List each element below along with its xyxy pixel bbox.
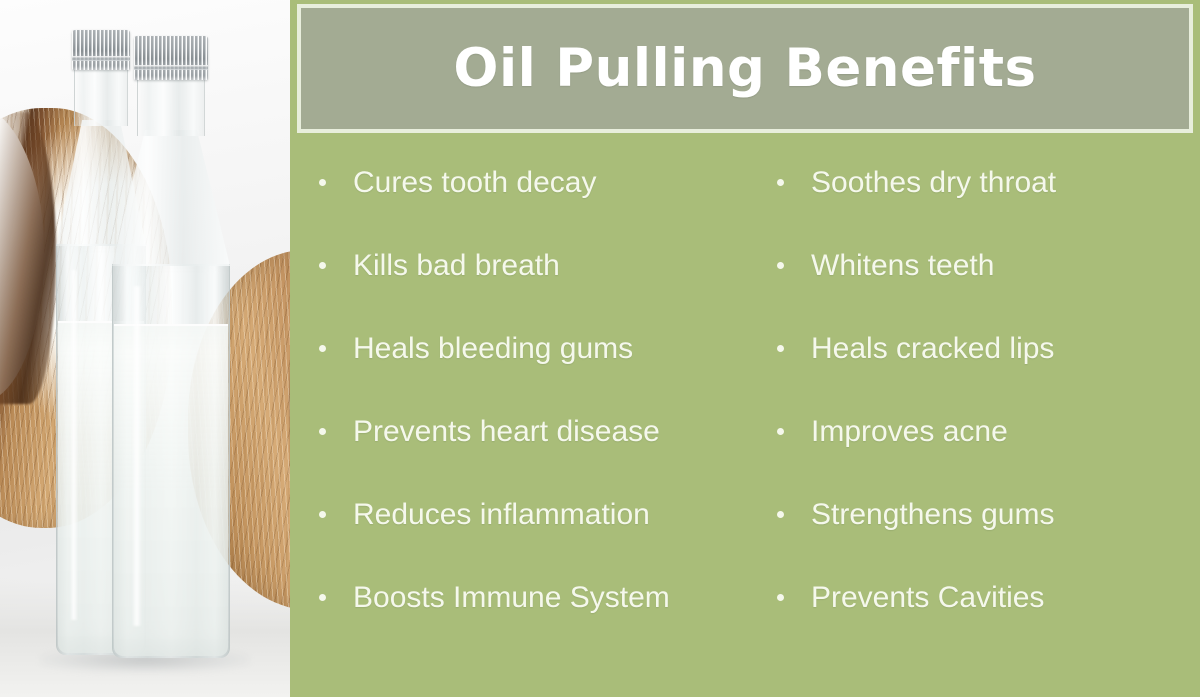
- list-item: Prevents Cavities: [756, 556, 1200, 639]
- coconut-oil-photo: [0, 0, 290, 697]
- list-item: Boosts Immune System: [290, 556, 756, 639]
- benefit-label: Kills bad breath: [353, 249, 560, 282]
- bottle-highlight: [70, 270, 78, 620]
- bullet-icon: [777, 179, 784, 186]
- oil-bottle-front: [112, 36, 230, 658]
- benefit-label: Prevents Cavities: [811, 581, 1044, 614]
- bullet-icon: [777, 594, 784, 601]
- bullet-icon: [319, 262, 326, 269]
- bottle-highlight: [132, 286, 142, 626]
- benefit-label: Heals cracked lips: [811, 332, 1054, 365]
- list-item: Strengthens gums: [756, 473, 1200, 556]
- benefit-label: Cures tooth decay: [353, 166, 596, 199]
- benefits-column-right: Soothes dry throat Whitens teeth Heals c…: [756, 141, 1200, 661]
- benefit-label: Improves acne: [811, 415, 1008, 448]
- benefits-panel: Oil Pulling Benefits Cures tooth decay K…: [290, 0, 1200, 697]
- list-item: Heals cracked lips: [756, 307, 1200, 390]
- benefit-label: Prevents heart disease: [353, 415, 660, 448]
- list-item: Heals bleeding gums: [290, 307, 756, 390]
- list-item: Reduces inflammation: [290, 473, 756, 556]
- benefit-label: Reduces inflammation: [353, 498, 650, 531]
- bottle-shoulder: [112, 130, 230, 266]
- benefit-label: Soothes dry throat: [811, 166, 1056, 199]
- list-item: Whitens teeth: [756, 224, 1200, 307]
- page-title: Oil Pulling Benefits: [453, 42, 1036, 95]
- list-item: Kills bad breath: [290, 224, 756, 307]
- bullet-icon: [319, 345, 326, 352]
- bullet-icon: [319, 511, 326, 518]
- list-item: Cures tooth decay: [290, 141, 756, 224]
- bullet-icon: [777, 262, 784, 269]
- infographic-canvas: Oil Pulling Benefits Cures tooth decay K…: [0, 0, 1200, 697]
- bullet-icon: [319, 179, 326, 186]
- bullet-icon: [777, 345, 784, 352]
- bullet-icon: [319, 428, 326, 435]
- bullet-icon: [319, 594, 326, 601]
- benefit-label: Strengthens gums: [811, 498, 1054, 531]
- list-item: Prevents heart disease: [290, 390, 756, 473]
- bullet-icon: [777, 511, 784, 518]
- benefit-label: Whitens teeth: [811, 249, 994, 282]
- bullet-icon: [777, 428, 784, 435]
- list-item: Improves acne: [756, 390, 1200, 473]
- benefit-label: Heals bleeding gums: [353, 332, 633, 365]
- bottle-body: [112, 264, 230, 658]
- list-item: Soothes dry throat: [756, 141, 1200, 224]
- benefits-list: Cures tooth decay Kills bad breath Heals…: [290, 141, 1200, 661]
- bottle-cap-icon: [134, 36, 208, 80]
- benefits-column-left: Cures tooth decay Kills bad breath Heals…: [290, 141, 756, 661]
- cap-ring: [134, 65, 208, 70]
- benefit-label: Boosts Immune System: [353, 581, 670, 614]
- title-banner: Oil Pulling Benefits: [297, 4, 1193, 133]
